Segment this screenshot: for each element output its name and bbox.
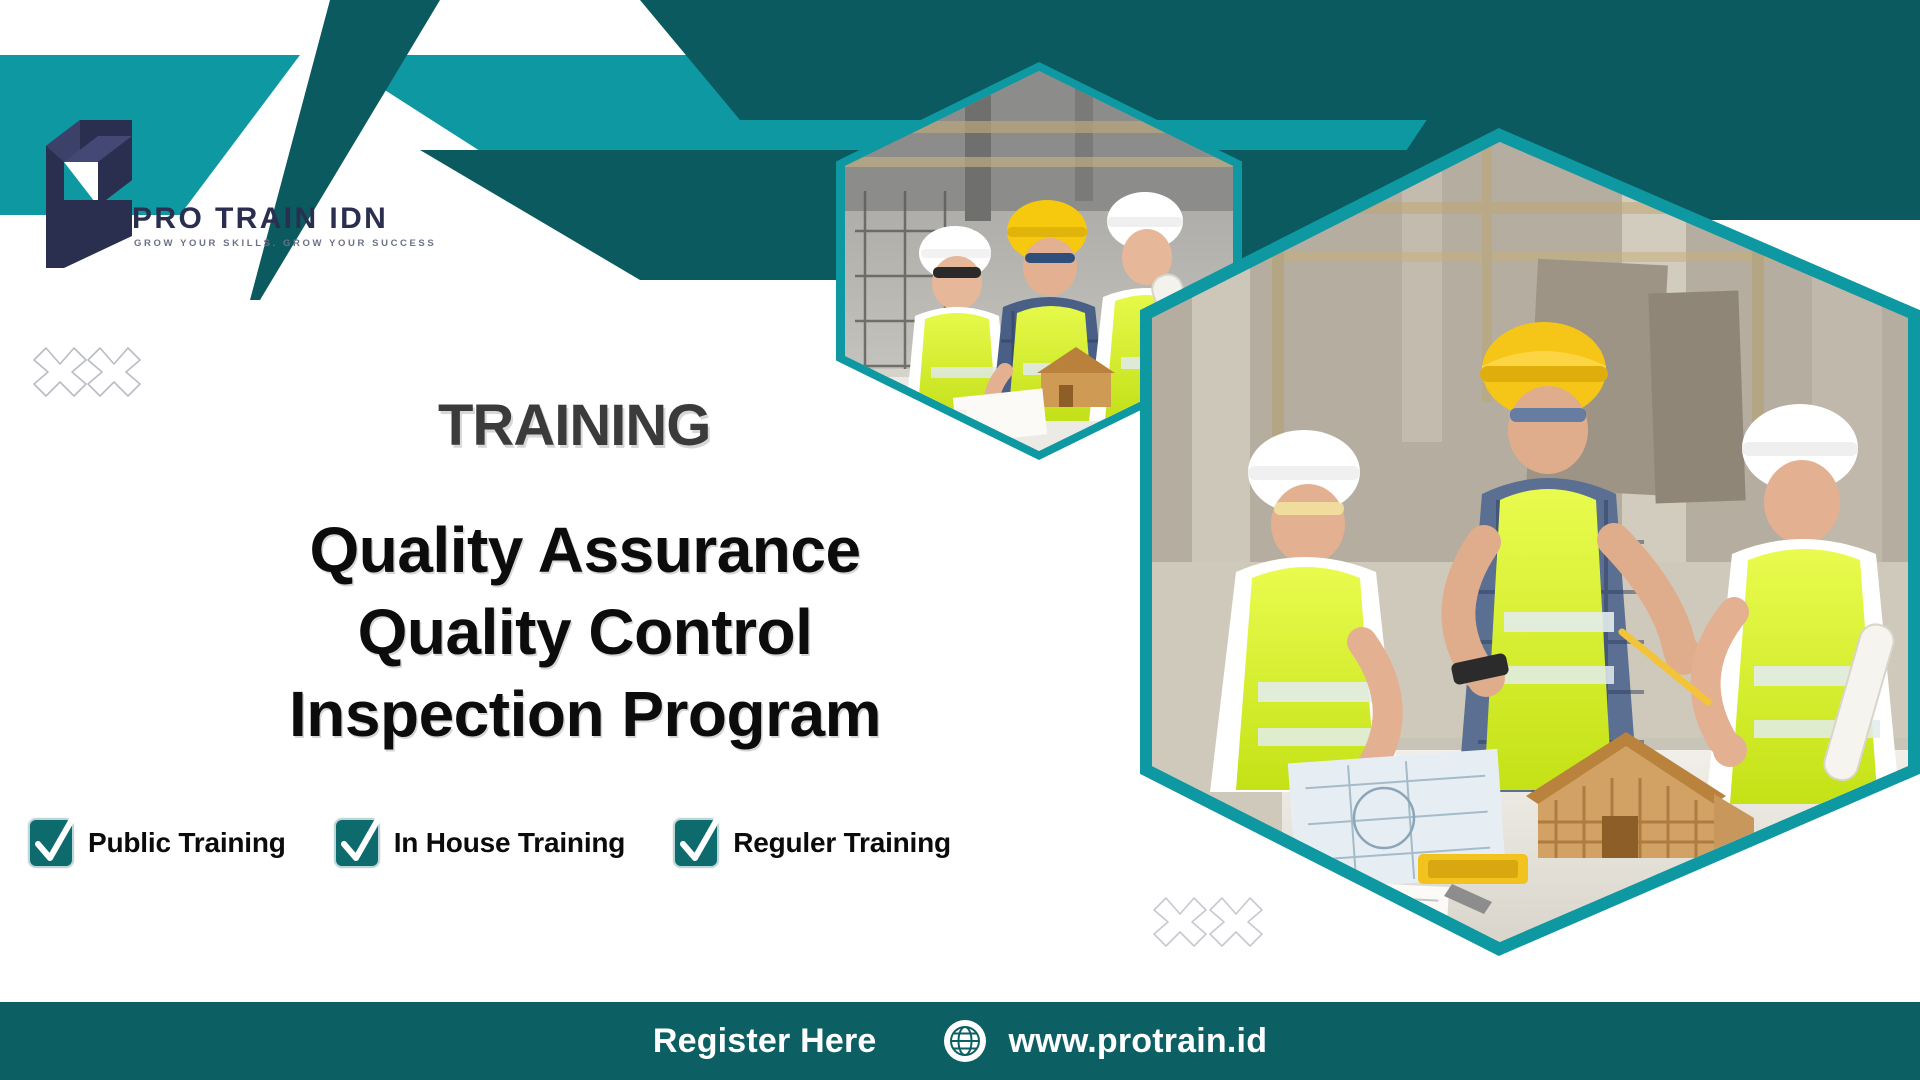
- footer-divider: [0, 994, 1920, 1002]
- pro-train-arrow-mark-icon: [36, 118, 148, 268]
- training-option-public[interactable]: Public Training: [28, 818, 286, 868]
- checkbox-reguler-training[interactable]: [673, 818, 719, 868]
- hero-title-line-2: Quality Control: [0, 592, 1170, 674]
- checkbox-in-house-training[interactable]: [334, 818, 380, 868]
- training-option-reguler[interactable]: Reguler Training: [673, 818, 951, 868]
- globe-icon: [943, 1019, 987, 1063]
- checkmark-icon: [28, 812, 80, 874]
- brand-logo[interactable]: PRO TRAIN IDN GROW YOUR SKILLS. GROW YOU…: [36, 118, 396, 268]
- checkmark-icon: [334, 812, 386, 874]
- website-link[interactable]: www.protrain.id: [943, 1019, 1268, 1063]
- checkbox-public-training[interactable]: [28, 818, 74, 868]
- checkmark-icon: [673, 812, 725, 874]
- poster-canvas: PRO TRAIN IDN GROW YOUR SKILLS. GROW YOU…: [0, 0, 1920, 1080]
- training-option-in-house[interactable]: In House Training: [334, 818, 626, 868]
- training-option-label: In House Training: [394, 827, 626, 859]
- training-options-list: Public Training In House Training Regule…: [28, 818, 951, 868]
- hero-title-line-1: Quality Assurance: [0, 510, 1170, 592]
- brand-name: PRO TRAIN IDN: [132, 202, 388, 236]
- brand-tagline: GROW YOUR SKILLS. GROW YOUR SUCCESS: [134, 238, 436, 249]
- cross-outline-icon-left-2: [82, 340, 146, 404]
- cross-outline-icon-bottom-1: [1148, 890, 1212, 954]
- cross-outline-icon-bottom-2: [1204, 890, 1268, 954]
- footer-bar: Register Here www.protrain.id: [0, 1002, 1920, 1080]
- hero-kicker: TRAINING: [438, 392, 710, 459]
- training-option-label: Reguler Training: [733, 827, 951, 859]
- register-cta[interactable]: Register Here: [653, 1022, 877, 1061]
- website-url: www.protrain.id: [1009, 1022, 1268, 1061]
- hero-title: Quality Assurance Quality Control Inspec…: [0, 510, 1170, 756]
- hero-title-line-3: Inspection Program: [0, 674, 1170, 756]
- training-option-label: Public Training: [88, 827, 286, 859]
